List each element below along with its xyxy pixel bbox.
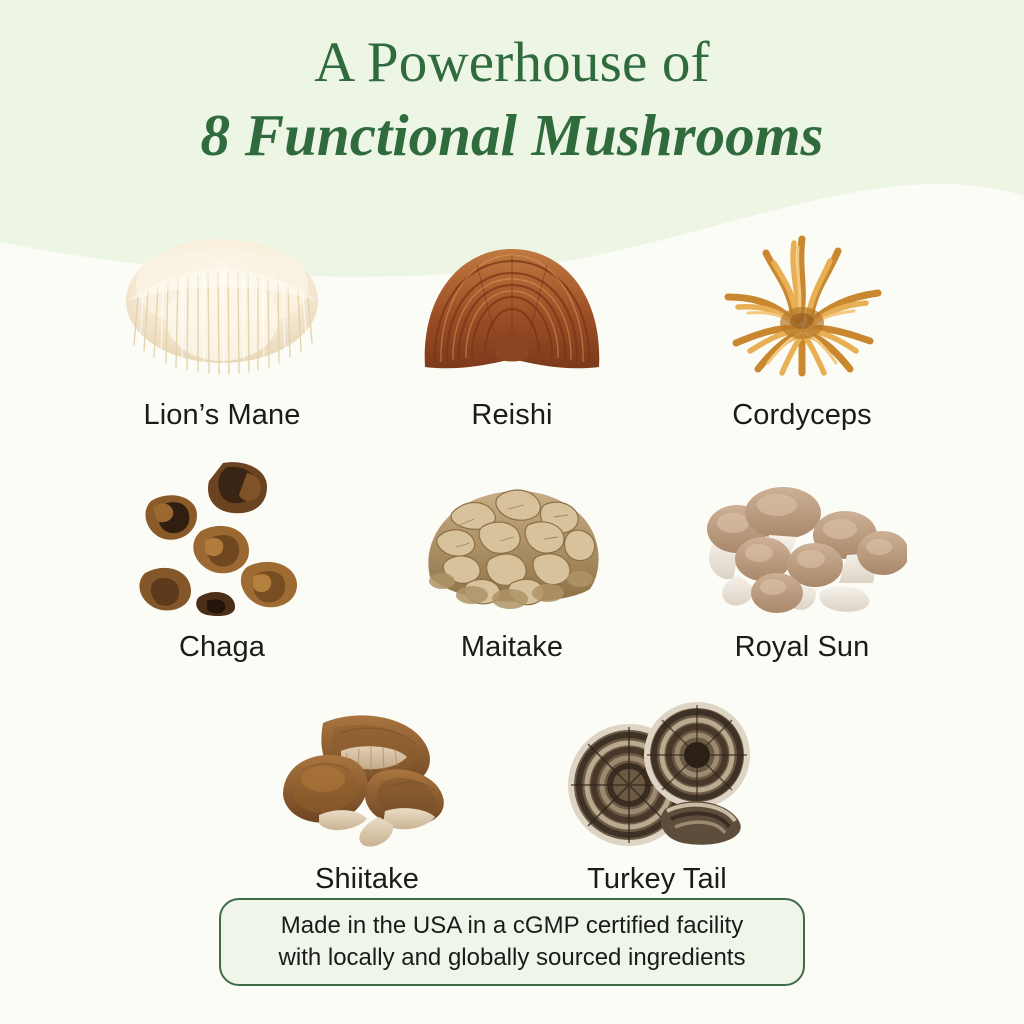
mushroom-label: Lion’s Mane <box>144 399 301 432</box>
mushroom-label: Reishi <box>471 399 552 432</box>
shiitake-photo <box>242 681 492 849</box>
mushroom-cell-shiitake[interactable]: Shiitake <box>222 664 512 896</box>
turkey-tail-photo <box>532 681 782 849</box>
mushroom-row-1: Lion’s Mane <box>0 196 1024 432</box>
mushroom-row-2: Chaga <box>0 432 1024 664</box>
badge-line-1: Made in the USA in a cGMP certified faci… <box>281 910 743 942</box>
mushroom-row-3: Shiitake <box>0 664 1024 896</box>
infographic-page: A Powerhouse of 8 Functional Mushrooms <box>0 0 1024 1024</box>
mushroom-label: Royal Sun <box>735 631 870 664</box>
mushroom-cell-maitake[interactable]: Maitake <box>367 432 657 664</box>
mushroom-cell-cordyceps[interactable]: Cordyceps <box>657 196 947 432</box>
mushroom-label: Cordyceps <box>732 399 872 432</box>
mushroom-label: Shiitake <box>315 863 419 896</box>
mushroom-label: Turkey Tail <box>587 863 727 896</box>
mushroom-cell-royal-sun[interactable]: Royal Sun <box>657 432 947 664</box>
made-in-usa-badge: Made in the USA in a cGMP certified faci… <box>219 898 805 986</box>
royal-sun-photo <box>677 449 927 617</box>
mushroom-label: Maitake <box>461 631 563 664</box>
mushroom-label: Chaga <box>179 631 265 664</box>
maitake-photo <box>387 449 637 617</box>
mushroom-grid: Lion’s Mane <box>0 196 1024 896</box>
mushroom-cell-lions-mane[interactable]: Lion’s Mane <box>77 196 367 432</box>
lions-mane-photo <box>97 217 347 385</box>
mushroom-cell-turkey-tail[interactable]: Turkey Tail <box>512 664 802 896</box>
mushroom-cell-reishi[interactable]: Reishi <box>367 196 657 432</box>
mushroom-cell-chaga[interactable]: Chaga <box>77 432 367 664</box>
reishi-photo <box>387 217 637 385</box>
badge-line-2: with locally and globally sourced ingred… <box>279 942 746 974</box>
chaga-photo <box>97 449 347 617</box>
cordyceps-photo <box>677 217 927 385</box>
